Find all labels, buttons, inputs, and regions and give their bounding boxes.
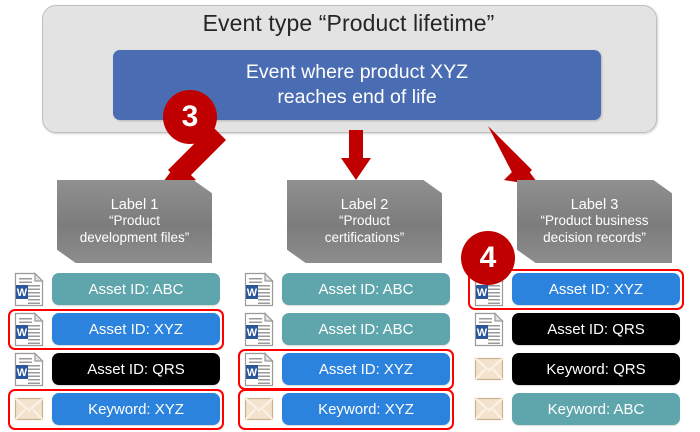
item-row[interactable]: WAsset ID: XYZ	[230, 350, 460, 390]
item-row[interactable]: WAsset ID: ABC	[0, 270, 230, 310]
label-tag-2: Label 2 “Product certifications”	[287, 180, 442, 263]
word-document-icon: W	[14, 352, 44, 387]
item-row[interactable]: WAsset ID: ABC	[230, 310, 460, 350]
highlight-outline	[238, 389, 454, 430]
item-pill[interactable]: Asset ID: ABC	[282, 273, 450, 305]
label-tag-3-quote-line1: “Product business	[540, 213, 648, 230]
highlight-outline	[8, 389, 224, 430]
item-row[interactable]: Keyword: QRS	[460, 350, 690, 390]
item-row[interactable]: Keyword: XYZ	[0, 390, 230, 430]
label-3-items: WAsset ID: XYZWAsset ID: QRSKeyword: QRS…	[460, 270, 690, 430]
label-tag-1-quote-line1: “Product	[109, 213, 160, 230]
item-pill-label: Asset ID: ABC	[318, 321, 413, 338]
event-type-title: Event type “Product lifetime”	[42, 10, 655, 37]
label-tag-2-quote-line2: certifications”	[325, 230, 405, 247]
item-row[interactable]: WAsset ID: XYZ	[0, 310, 230, 350]
label-tag-3-title: Label 3	[571, 197, 619, 214]
item-pill-label: Asset ID: ABC	[88, 281, 183, 298]
svg-text:W: W	[17, 367, 28, 379]
item-pill[interactable]: Keyword: QRS	[512, 353, 680, 385]
diagram-canvas: Event type “Product lifetime” Event wher…	[0, 0, 700, 429]
label-tag-1: Label 1 “Product development files”	[57, 180, 212, 263]
label-tag-2-title: Label 2	[341, 197, 389, 214]
item-pill-label: Keyword: QRS	[546, 361, 645, 378]
label-1-items: WAsset ID: ABCWAsset ID: XYZWAsset ID: Q…	[0, 270, 230, 430]
label-tag-2-quote-line1: “Product	[339, 213, 390, 230]
step-badge-3: 3	[163, 90, 217, 144]
item-pill[interactable]: Asset ID: QRS	[512, 313, 680, 345]
arrow-to-label-3	[488, 126, 540, 186]
item-pill[interactable]: Asset ID: QRS	[52, 353, 220, 385]
svg-text:W: W	[247, 327, 258, 339]
item-row[interactable]: Keyword: ABC	[460, 390, 690, 430]
arrow-to-label-2	[341, 130, 371, 180]
item-row[interactable]: Keyword: XYZ	[230, 390, 460, 430]
word-document-icon: W	[244, 272, 274, 307]
item-pill-label: Asset ID: QRS	[87, 361, 185, 378]
item-pill[interactable]: Asset ID: ABC	[282, 313, 450, 345]
label-tag-3-quote-line2: decision records”	[543, 230, 646, 247]
item-pill-label: Asset ID: QRS	[547, 321, 645, 338]
envelope-icon	[474, 392, 504, 427]
highlight-outline	[238, 349, 454, 390]
item-row[interactable]: WAsset ID: ABC	[230, 270, 460, 310]
word-document-icon: W	[474, 312, 504, 347]
label-tag-3: Label 3 “Product business decision recor…	[517, 180, 672, 263]
svg-text:W: W	[477, 327, 488, 339]
item-row[interactable]: WAsset ID: QRS	[0, 350, 230, 390]
highlight-outline	[8, 309, 224, 350]
word-document-icon: W	[14, 272, 44, 307]
event-instance-line2: reaches end of life	[277, 85, 436, 110]
event-instance-line1: Event where product XYZ	[246, 60, 468, 85]
item-pill-label: Asset ID: ABC	[318, 281, 413, 298]
item-pill[interactable]: Keyword: ABC	[512, 393, 680, 425]
svg-text:W: W	[247, 287, 258, 299]
item-pill[interactable]: Asset ID: ABC	[52, 273, 220, 305]
step-badge-4: 4	[461, 231, 515, 285]
svg-text:W: W	[17, 287, 28, 299]
label-tag-1-quote-line2: development files”	[80, 230, 190, 247]
item-row[interactable]: WAsset ID: QRS	[460, 310, 690, 350]
item-pill-label: Keyword: ABC	[548, 401, 645, 418]
label-2-items: WAsset ID: ABCWAsset ID: ABCWAsset ID: X…	[230, 270, 460, 430]
label-tag-1-title: Label 1	[111, 197, 159, 214]
word-document-icon: W	[244, 312, 274, 347]
envelope-icon	[474, 352, 504, 387]
